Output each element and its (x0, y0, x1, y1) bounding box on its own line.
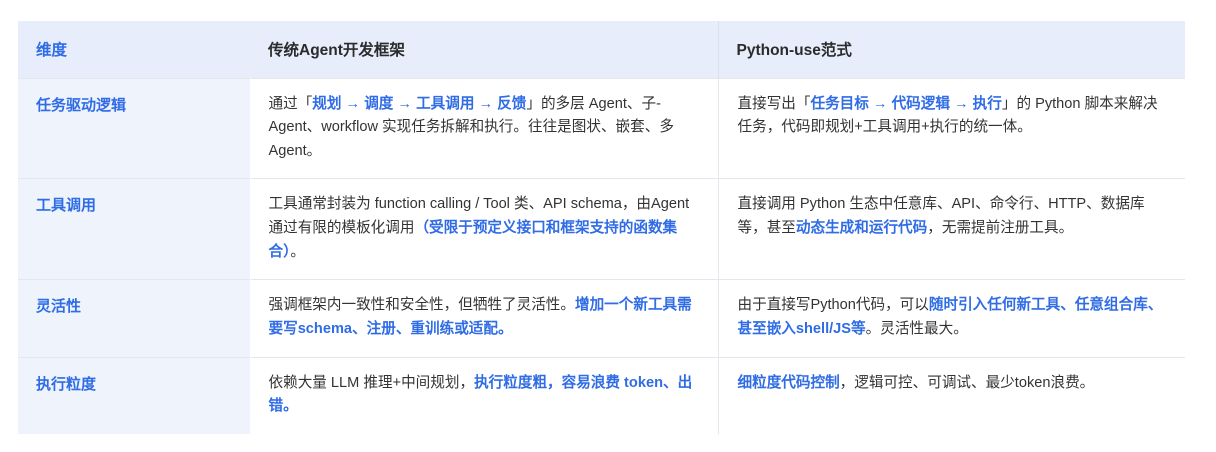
column-header-traditional: 传统Agent开发框架 (250, 21, 718, 78)
table-row: 执行粒度 依赖大量 LLM 推理+中间规划，执行粒度粗，容易浪费 token、出… (18, 357, 1185, 434)
table-row: 工具调用 工具通常封装为 function calling / Tool 类、A… (18, 179, 1185, 280)
row-dimension-label: 灵活性 (18, 280, 250, 357)
table-header: 维度 传统Agent开发框架 Python-use范式 (18, 21, 1185, 78)
column-header-dimension: 维度 (18, 21, 250, 78)
cell-text: 强调框架内一致性和安全性，但牺牲了灵活性。增加一个新工具需要写schema、注册… (269, 294, 696, 341)
table-body: 任务驱动逻辑 通过「规划 → 调度 → 工具调用 → 反馈」的多层 Agent、… (18, 78, 1185, 434)
row-pythonuse-cell: 由于直接写Python代码，可以随时引入任何新工具、任意组合库、甚至嵌入shel… (718, 280, 1185, 357)
row-traditional-cell: 强调框架内一致性和安全性，但牺牲了灵活性。增加一个新工具需要写schema、注册… (250, 280, 718, 357)
page-root: 维度 传统Agent开发框架 Python-use范式 任务驱动逻辑 通过「规划… (0, 0, 1216, 452)
row-dimension-label: 执行粒度 (18, 357, 250, 434)
column-header-pythonuse: Python-use范式 (718, 21, 1185, 78)
row-traditional-cell: 依赖大量 LLM 推理+中间规划，执行粒度粗，容易浪费 token、出错。 (250, 357, 718, 434)
cell-text: 直接写出「任务目标 → 代码逻辑 → 执行」的 Python 脚本来解决任务，代… (738, 93, 1164, 140)
row-traditional-cell: 通过「规划 → 调度 → 工具调用 → 反馈」的多层 Agent、子-Agent… (250, 78, 718, 179)
header-row: 维度 传统Agent开发框架 Python-use范式 (18, 21, 1185, 78)
row-pythonuse-cell: 直接写出「任务目标 → 代码逻辑 → 执行」的 Python 脚本来解决任务，代… (718, 78, 1185, 179)
row-dimension-label: 工具调用 (18, 179, 250, 280)
cell-text: 由于直接写Python代码，可以随时引入任何新工具、任意组合库、甚至嵌入shel… (738, 294, 1164, 341)
cell-text: 依赖大量 LLM 推理+中间规划，执行粒度粗，容易浪费 token、出错。 (269, 372, 696, 419)
cell-text: 直接调用 Python 生态中任意库、API、命令行、HTTP、数据库等，甚至动… (738, 193, 1164, 240)
comparison-table: 维度 传统Agent开发框架 Python-use范式 任务驱动逻辑 通过「规划… (18, 21, 1185, 434)
row-dimension-label: 任务驱动逻辑 (18, 78, 250, 179)
cell-text: 细粒度代码控制，逻辑可控、可调试、最少token浪费。 (738, 372, 1164, 396)
table-row: 任务驱动逻辑 通过「规划 → 调度 → 工具调用 → 反馈」的多层 Agent、… (18, 78, 1185, 179)
row-pythonuse-cell: 直接调用 Python 生态中任意库、API、命令行、HTTP、数据库等，甚至动… (718, 179, 1185, 280)
row-traditional-cell: 工具通常封装为 function calling / Tool 类、API sc… (250, 179, 718, 280)
table-row: 灵活性 强调框架内一致性和安全性，但牺牲了灵活性。增加一个新工具需要写schem… (18, 280, 1185, 357)
cell-text: 工具通常封装为 function calling / Tool 类、API sc… (269, 193, 696, 264)
row-pythonuse-cell: 细粒度代码控制，逻辑可控、可调试、最少token浪费。 (718, 357, 1185, 434)
cell-text: 通过「规划 → 调度 → 工具调用 → 反馈」的多层 Agent、子-Agent… (269, 93, 696, 164)
